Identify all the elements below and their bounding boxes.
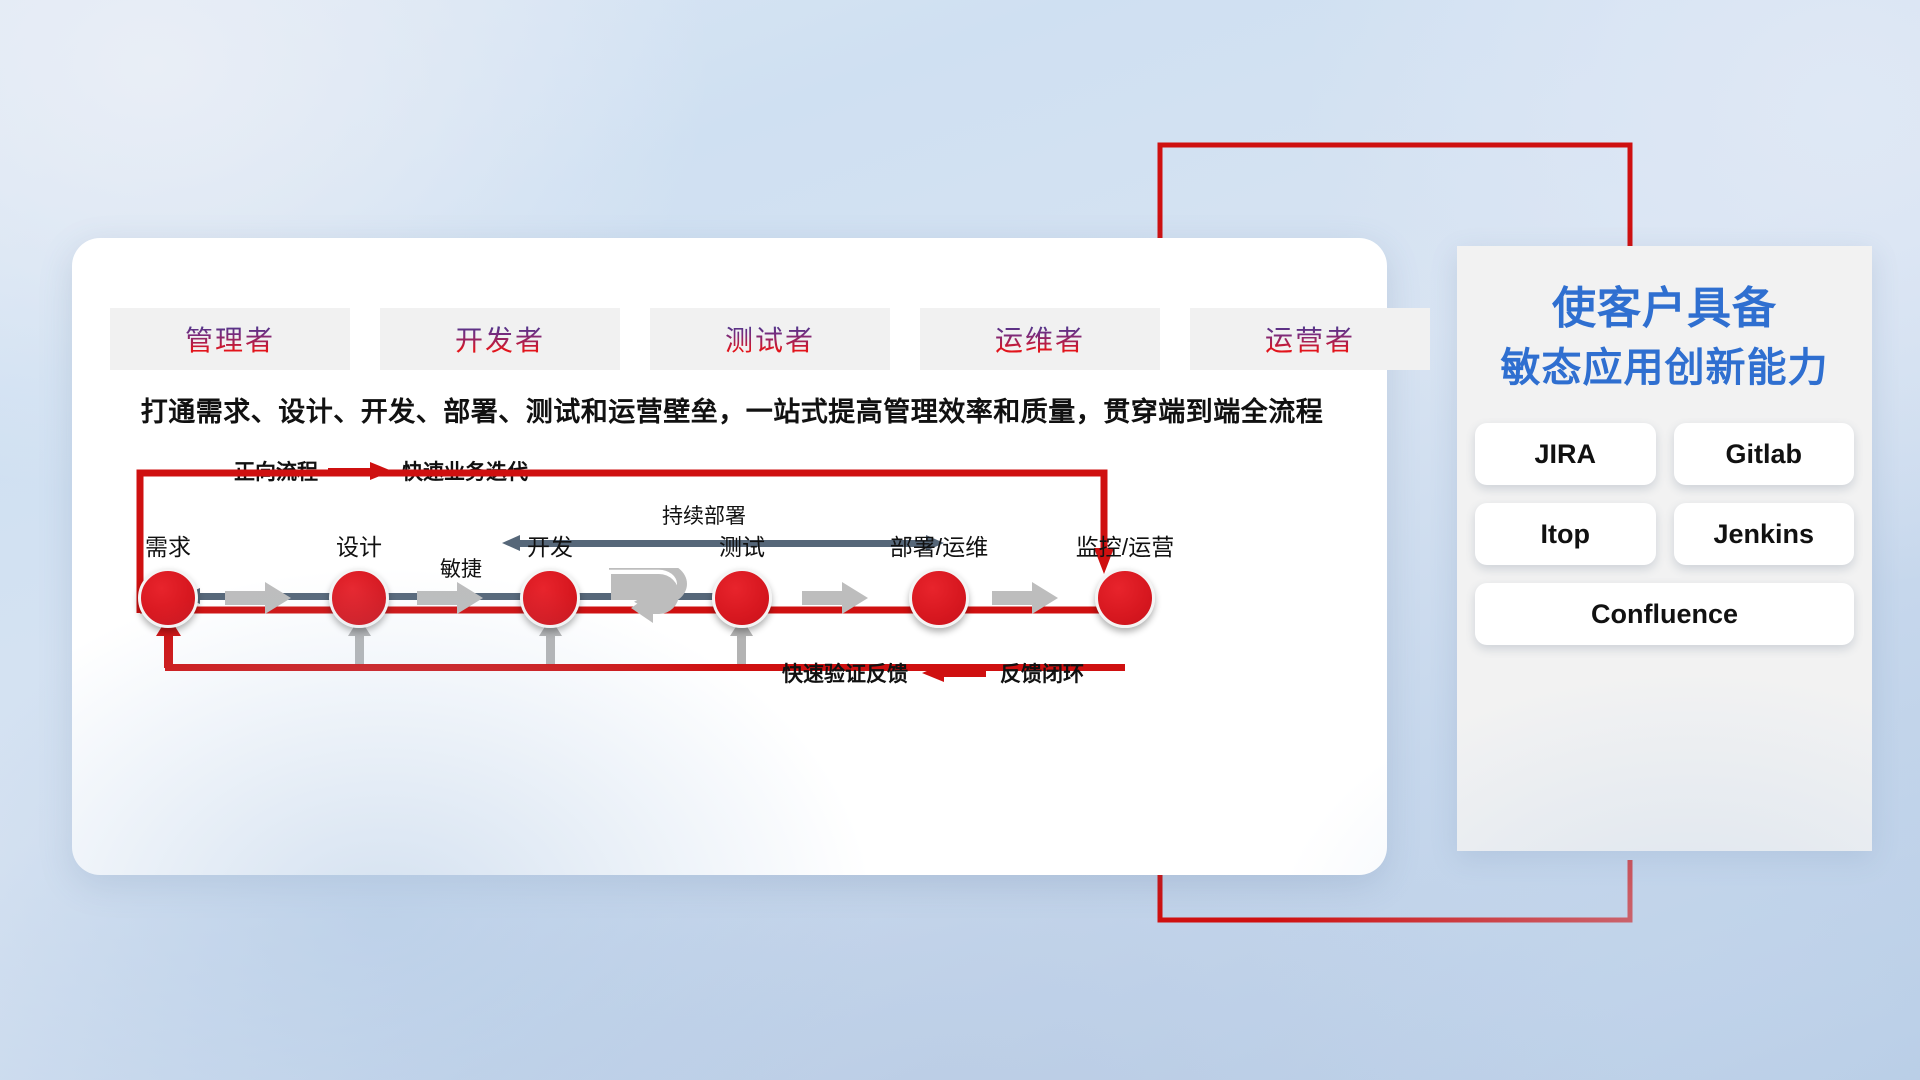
flow-arrow-icon [417,581,483,615]
node-circle-icon [520,568,580,628]
node-circle-icon [1095,568,1155,628]
role-label: 管理者 [185,319,275,359]
flow-arrow-icon [225,581,291,615]
tool-chip-label: Confluence [1591,599,1738,630]
tool-chip-label: Itop [1541,519,1590,550]
flow-arrow-icon [992,581,1058,615]
role-label: 运维者 [995,319,1085,359]
feedback-source-label: 反馈闭环 [1000,658,1084,688]
tool-chip-label: JIRA [1534,439,1596,470]
tool-chip-label: Jenkins [1713,519,1814,550]
red-right-arrow-icon [328,462,392,480]
pipeline-node-requirement[interactable]: 需求 [138,568,198,628]
forward-flow-from-label: 正向流程 [234,456,318,486]
node-circle-icon [329,568,389,628]
pipeline-node-development[interactable]: 开发 [520,568,580,628]
node-circle-icon [909,568,969,628]
feedback-caption: 快速验证反馈 反馈闭环 [782,658,1084,688]
pipeline-node-label: 开发 [527,528,573,562]
continuous-deployment-label: 持续部署 [662,500,746,530]
tool-chip-jira[interactable]: JIRA [1475,423,1656,485]
pipeline-node-label: 部署/运维 [890,528,988,562]
tool-chip-confluence[interactable]: Confluence [1475,583,1854,645]
tool-chip-gitlab[interactable]: Gitlab [1674,423,1855,485]
pipeline-node-test[interactable]: 测试 [712,568,772,628]
feedback-result-label: 快速验证反馈 [782,658,908,688]
forward-flow-to-label: 快速业务迭代 [402,456,528,486]
tool-chip-grid: JIRA Gitlab Itop Jenkins Confluence [1475,423,1854,645]
main-diagram-card: 管理者 开发者 测试者 运维者 运营者 打通需求、设计、开发、部署、测试和运营壁… [72,238,1387,875]
flow-arrow-icon [802,581,868,615]
role-label: 运营者 [1265,319,1355,359]
value-panel-title-line1: 使客户具备 [1457,278,1872,340]
node-circle-icon [712,568,772,628]
forward-flow-caption: 正向流程 快速业务迭代 [234,456,528,486]
value-panel-title: 使客户具备 敏态应用创新能力 [1457,278,1872,397]
role-box-manager[interactable]: 管理者 [108,306,352,372]
iteration-loop-icon [605,568,693,630]
pipeline-node-label: 测试 [719,528,765,562]
node-circle-icon [138,568,198,628]
tool-chip-itop[interactable]: Itop [1475,503,1656,565]
role-box-developer[interactable]: 开发者 [378,306,622,372]
role-box-operations[interactable]: 运营者 [1188,306,1432,372]
pipeline-node-label: 需求 [145,528,191,562]
headline-text: 打通需求、设计、开发、部署、测试和运营壁垒，一站式提高管理效率和质量，贯穿端到端… [112,390,1352,429]
role-box-ops[interactable]: 运维者 [918,306,1162,372]
tool-chip-label: Gitlab [1725,439,1802,470]
pipeline-node-label: 监控/运营 [1076,528,1174,562]
value-panel: 使客户具备 敏态应用创新能力 JIRA Gitlab Itop Jenkins … [1457,246,1872,851]
role-box-row: 管理者 开发者 测试者 运维者 运营者 [108,306,1432,372]
tool-chip-jenkins[interactable]: Jenkins [1674,503,1855,565]
pipeline-node-label: 设计 [336,528,382,562]
pipeline-node-design[interactable]: 设计 [329,568,389,628]
red-left-arrow-icon [922,664,986,682]
value-panel-title-line2: 敏态应用创新能力 [1457,340,1872,397]
slide-canvas: 管理者 开发者 测试者 运维者 运营者 打通需求、设计、开发、部署、测试和运营壁… [0,0,1920,1080]
pipeline-node-monitor-operations[interactable]: 监控/运营 [1095,568,1155,628]
pipeline-node-deploy-ops[interactable]: 部署/运维 [909,568,969,628]
role-label: 开发者 [455,319,545,359]
role-box-tester[interactable]: 测试者 [648,306,892,372]
role-label: 测试者 [725,319,815,359]
